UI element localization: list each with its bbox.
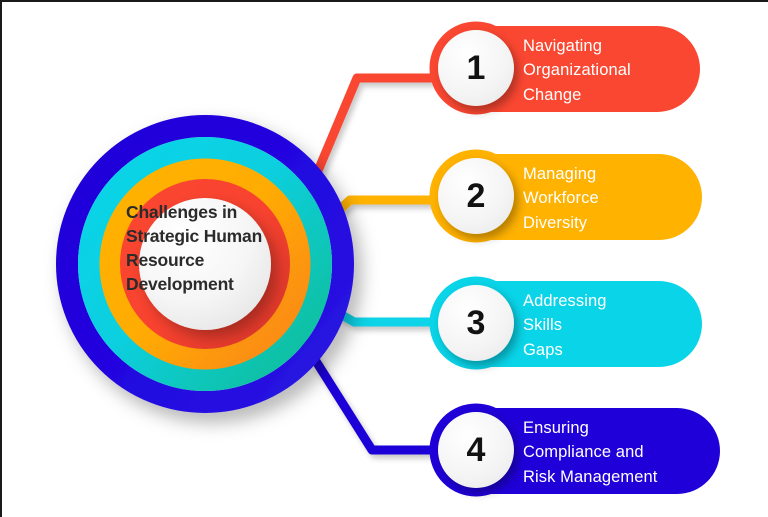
item-label-2: Managing Workforce Diversity [523,162,703,235]
item-label-4: Ensuring Compliance and Risk Management [523,416,723,489]
item-badge-1[interactable]: 1 [438,30,514,106]
item-badge-3[interactable]: 3 [438,285,514,361]
item-label-3: Addressing Skills Gaps [523,289,703,362]
infographic-canvas: Challenges in Strategic Human Resource D… [0,0,768,517]
item-number-3: 3 [467,304,486,343]
item-badge-4[interactable]: 4 [438,412,514,488]
item-badge-2[interactable]: 2 [438,158,514,234]
item-number-2: 2 [467,177,486,216]
item-number-1: 1 [467,49,486,88]
item-label-1: Navigating Organizational Change [523,34,703,107]
item-number-4: 4 [467,431,486,470]
hub-disc [139,198,271,330]
